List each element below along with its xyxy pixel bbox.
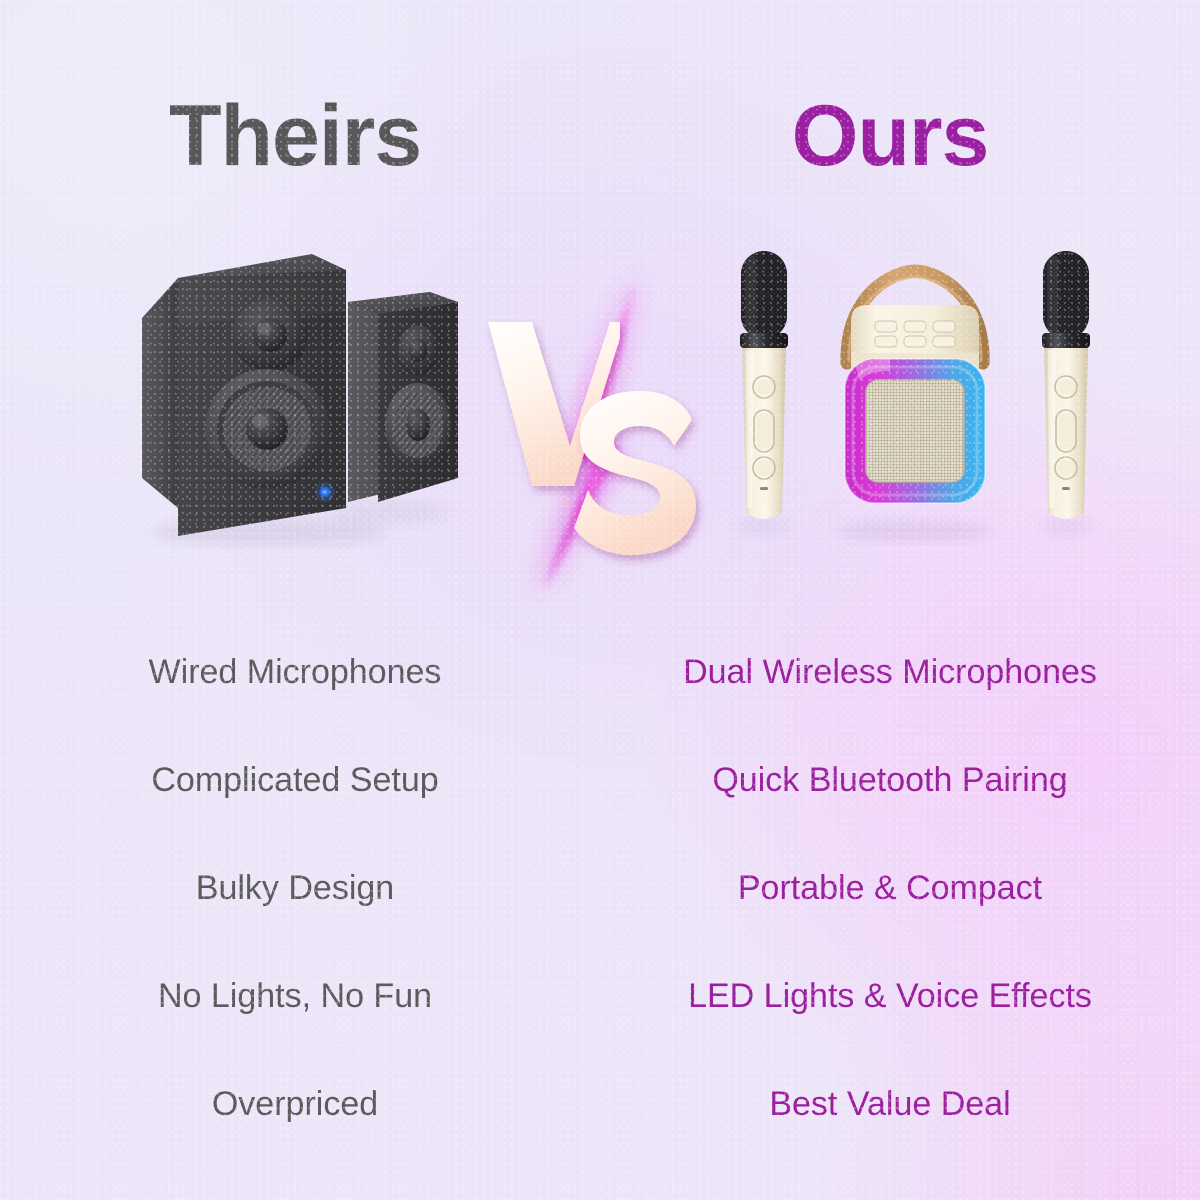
list-item: Quick Bluetooth Pairing: [640, 726, 1140, 834]
list-item: No Lights, No Fun: [45, 942, 545, 1050]
feature-list-ours: Dual Wireless Microphones Quick Bluetoot…: [640, 618, 1140, 1158]
feature-list-theirs: Wired Microphones Complicated Setup Bulk…: [45, 618, 545, 1158]
list-item: Portable & Compact: [640, 834, 1140, 942]
list-item: LED Lights & Voice Effects: [640, 942, 1140, 1050]
speaker-secondary: [348, 292, 458, 502]
speaker-primary: [142, 254, 346, 536]
column-heading-theirs: Theirs: [60, 92, 530, 180]
versus-badge: [470, 250, 730, 620]
list-item: Dual Wireless Microphones: [640, 618, 1140, 726]
list-item: Complicated Setup: [45, 726, 545, 834]
wireless-microphone-left: [740, 251, 788, 519]
speaker-grille: [866, 380, 964, 482]
product-image-karaoke-set: [715, 235, 1115, 545]
comparison-infographic: Theirs Ours: [0, 0, 1200, 1200]
spark-icon: [628, 366, 632, 370]
list-item: Bulky Design: [45, 834, 545, 942]
wireless-microphone-right: [1042, 251, 1090, 519]
list-item: Overpriced: [45, 1050, 545, 1158]
column-heading-ours: Ours: [640, 92, 1140, 180]
product-image-bookshelf-speakers: [120, 240, 470, 550]
spark-icon: [564, 500, 568, 504]
list-item: Wired Microphones: [45, 618, 545, 726]
portable-karaoke-speaker: [845, 271, 985, 503]
list-item: Best Value Deal: [640, 1050, 1140, 1158]
